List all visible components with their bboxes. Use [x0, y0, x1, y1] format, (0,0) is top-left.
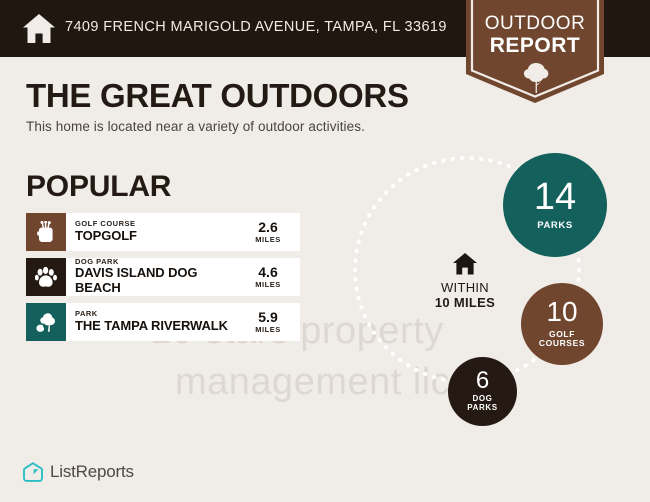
- row-distance-unit: MILES: [255, 235, 280, 244]
- row-distance: 2.6 MILES: [240, 213, 300, 251]
- row-text: DOG PARK DAVIS ISLAND DOG BEACH: [66, 258, 240, 296]
- row-distance-value: 4.6: [258, 265, 277, 280]
- golf-bag-icon: [36, 221, 56, 243]
- stat-label-parks: PARKS: [537, 221, 573, 232]
- popular-heading: POPULAR: [26, 170, 171, 204]
- row-distance-unit: MILES: [255, 280, 280, 289]
- stat-label-golf-line-2: COURSES: [539, 338, 585, 348]
- listreports-logo[interactable]: ListReports: [22, 461, 134, 483]
- row-distance: 5.9 MILES: [240, 303, 300, 341]
- stat-count-parks: 14: [534, 179, 576, 215]
- row-icon-box: [26, 303, 66, 341]
- row-distance-value: 5.9: [258, 310, 277, 325]
- row-text: GOLF COURSE TOPGOLF: [66, 213, 240, 251]
- row-text: PARK THE TAMPA RIVERWALK: [66, 303, 240, 341]
- stat-count-golf-courses: 10: [546, 299, 577, 326]
- row-icon-box: [26, 258, 66, 296]
- popular-list: GOLF COURSE TOPGOLF 2.6 MILES D: [26, 213, 300, 348]
- listreports-logo-text: ListReports: [50, 462, 134, 482]
- stat-circle-dog-parks: 6 DOG PARKS: [448, 357, 517, 426]
- row-name: THE TAMPA RIVERWALK: [75, 319, 240, 334]
- stat-label-dog-line-1: DOG: [472, 394, 492, 403]
- row-distance: 4.6 MILES: [240, 258, 300, 296]
- outdoor-report-page: 10 stars property management llc 7409 FR…: [0, 0, 650, 502]
- tree-icon: [523, 62, 549, 94]
- list-item[interactable]: DOG PARK DAVIS ISLAND DOG BEACH 4.6 MILE…: [26, 258, 300, 296]
- home-icon: [22, 12, 56, 45]
- stat-circle-parks: 14 PARKS: [503, 153, 607, 257]
- row-distance-value: 2.6: [258, 220, 277, 235]
- stat-circle-golf-courses: 10 GOLF COURSES: [521, 283, 603, 365]
- paw-icon: [35, 267, 57, 288]
- within-line-1: WITHIN: [441, 280, 489, 295]
- home-icon: [452, 252, 478, 276]
- row-icon-box: [26, 213, 66, 251]
- list-item[interactable]: PARK THE TAMPA RIVERWALK 5.9 MILES: [26, 303, 300, 341]
- list-item[interactable]: GOLF COURSE TOPGOLF 2.6 MILES: [26, 213, 300, 251]
- stat-label-golf-line-1: GOLF: [549, 329, 575, 339]
- within-line-2: 10 MILES: [410, 296, 520, 311]
- within-radius-block: WITHIN 10 MILES: [410, 252, 520, 311]
- page-title: THE GREAT OUTDOORS: [26, 77, 409, 115]
- page-subtitle: This home is located near a variety of o…: [26, 119, 365, 134]
- row-distance-unit: MILES: [255, 325, 280, 334]
- stat-label-dog-parks: DOG PARKS: [467, 395, 497, 413]
- park-tree-icon: [35, 312, 57, 333]
- stat-count-dog-parks: 6: [476, 370, 489, 393]
- stat-label-golf-courses: GOLF COURSES: [539, 330, 585, 349]
- property-address: 7409 FRENCH MARIGOLD AVENUE, TAMPA, FL 3…: [65, 19, 447, 35]
- stat-label-dog-line-2: PARKS: [467, 403, 497, 412]
- row-name: TOPGOLF: [75, 229, 240, 244]
- outdoor-report-badge: OUTDOOR REPORT: [466, 0, 604, 103]
- listreports-house-icon: [22, 461, 44, 483]
- within-radius-text: WITHIN 10 MILES: [410, 281, 520, 311]
- row-name: DAVIS ISLAND DOG BEACH: [75, 266, 240, 296]
